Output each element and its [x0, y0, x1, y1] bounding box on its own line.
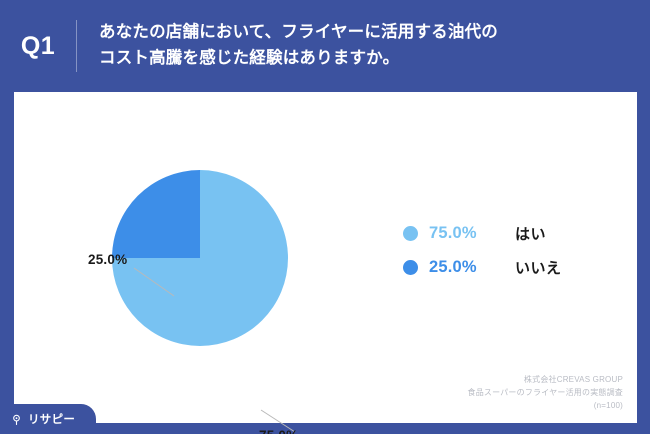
legend-label-iie: いいえ	[515, 257, 562, 278]
brand-logo[interactable]: リサピー	[0, 404, 96, 434]
source-company: 株式会社CREVAS GROUP	[468, 374, 623, 387]
pie-slice-iie[interactable]	[112, 170, 200, 258]
slice-label-iie: 25.0%	[88, 252, 127, 267]
legend-item-hai[interactable]: 75.0% はい	[403, 216, 623, 250]
legend-label-hai: はい	[515, 223, 546, 244]
pie-chart	[112, 170, 288, 346]
brand-logo-text: リサピー	[28, 411, 75, 427]
pie-chart-svg	[112, 170, 288, 346]
chart-card: 25.0% 75.0% 75.0% はい 25.0% いいえ 株式会社CREVA…	[14, 92, 637, 423]
legend-item-iie[interactable]: 25.0% いいえ	[403, 250, 623, 284]
question-number-badge: Q1	[0, 32, 76, 61]
location-pin-search-icon	[10, 413, 23, 426]
chart-legend: 75.0% はい 25.0% いいえ	[403, 216, 623, 284]
legend-color-swatch-hai	[403, 226, 418, 241]
question-line-1: あなたの店舗において、フライヤーに活用する油代の	[99, 20, 498, 46]
question-line-2: コスト高騰を感じた経験はありますか。	[99, 46, 498, 72]
source-sample-size: (n=100)	[468, 400, 623, 413]
legend-percent-hai: 75.0%	[429, 224, 503, 243]
pie-chart-area: 25.0% 75.0%	[14, 92, 414, 392]
question-text: あなたの店舗において、フライヤーに活用する油代の コスト高騰を感じた経験はありま…	[77, 20, 498, 71]
source-attribution: 株式会社CREVAS GROUP 食品スーパーのフライヤー活用の実態調査 (n=…	[468, 374, 623, 413]
question-header: Q1 あなたの店舗において、フライヤーに活用する油代の コスト高騰を感じた経験は…	[0, 0, 650, 92]
source-survey-title: 食品スーパーのフライヤー活用の実態調査	[468, 387, 623, 400]
legend-color-swatch-iie	[403, 260, 418, 275]
slice-label-hai: 75.0%	[259, 428, 298, 434]
legend-percent-iie: 25.0%	[429, 258, 503, 277]
